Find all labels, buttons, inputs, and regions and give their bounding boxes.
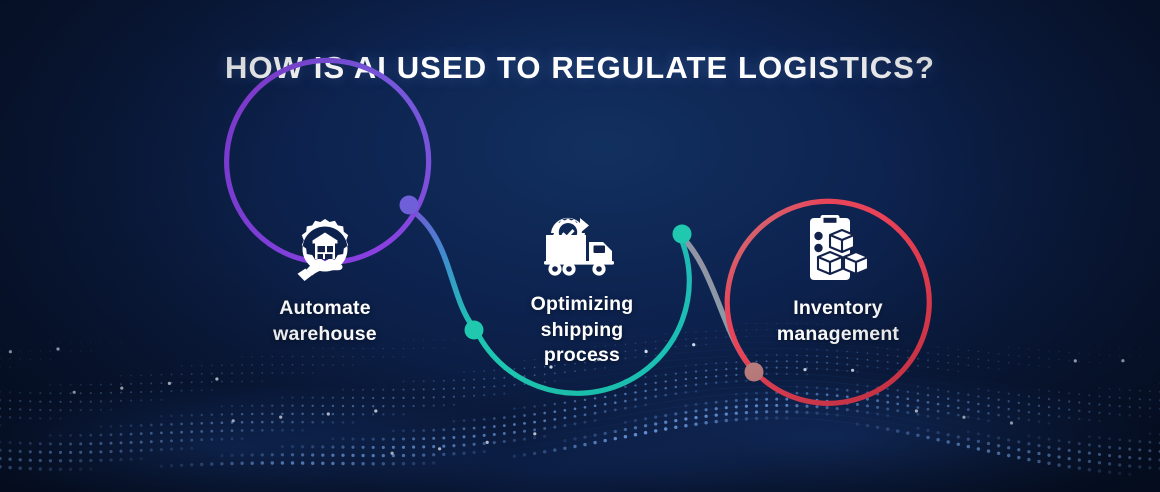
connector-dot-salmon (745, 363, 764, 382)
connector-1 (405, 206, 474, 328)
connector-dot-purple (400, 196, 419, 215)
connector-dot-teal-top (673, 225, 692, 244)
connector-2 (679, 234, 755, 372)
node-ring-2 (475, 234, 689, 393)
process-flow-diagram (0, 0, 1160, 492)
connector-dot-teal-left (465, 321, 484, 340)
infographic-canvas: HOW IS AI USED TO REGULATE LOGISTICS? (0, 0, 1160, 492)
node-ring-1 (217, 50, 439, 272)
